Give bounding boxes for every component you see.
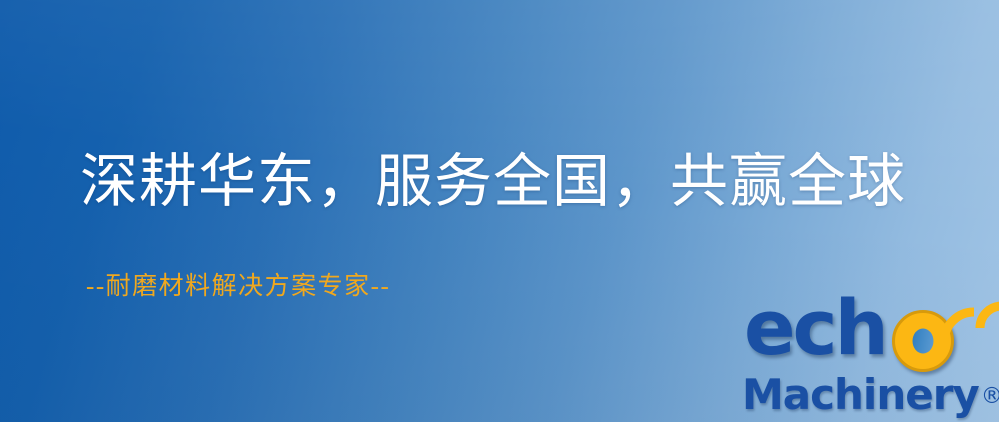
- logo-wordmark: ech: [742, 296, 994, 380]
- registered-trademark-icon: ®: [981, 384, 999, 409]
- banner-subheadline: --耐磨材料解决方案专家--: [86, 266, 390, 302]
- banner-headline: 深耕华东，服务全国，共赢全球: [80, 152, 906, 213]
- logo-company-name-text: Machinery: [742, 370, 979, 419]
- promo-banner: 深耕华东，服务全国，共赢全球 --耐磨材料解决方案专家-- ech Machin…: [0, 0, 999, 422]
- logo-signal-arcs-icon: [938, 290, 999, 360]
- logo-company-name: Machinery®: [742, 370, 999, 419]
- logo-wordmark-text: ech: [744, 290, 886, 366]
- company-logo: ech Machinery®: [742, 296, 994, 420]
